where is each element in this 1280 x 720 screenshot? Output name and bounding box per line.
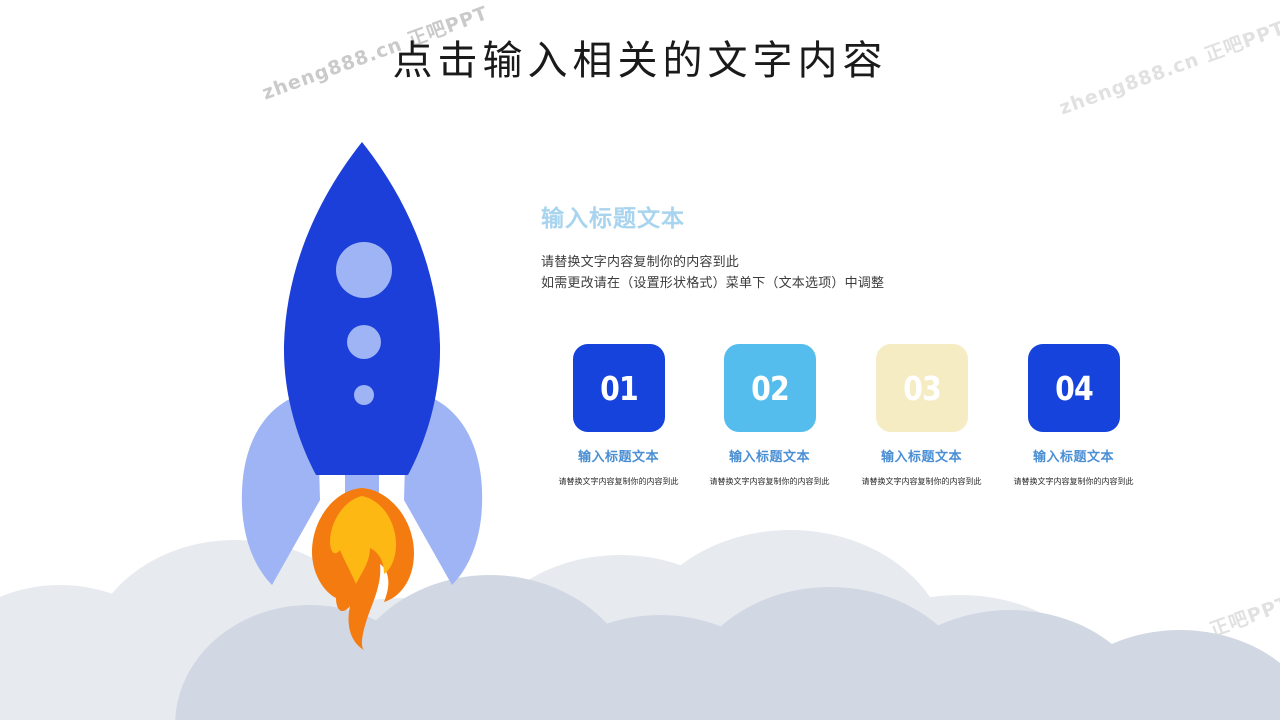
number-card-01-number: 01 [600, 369, 638, 408]
number-card-04-box[interactable]: 04 [1028, 344, 1120, 432]
number-card-01-box[interactable]: 01 [573, 344, 665, 432]
body-text-line-2: 如需更改请在（设置形状格式）菜单下（文本选项）中调整 [541, 272, 1161, 293]
number-card-01-title: 输入标题文本 [543, 446, 694, 465]
rocket-window-small [354, 385, 374, 405]
section-heading: 输入标题文本 [541, 205, 1161, 233]
rocket-body [284, 142, 440, 475]
number-card-03-title: 输入标题文本 [846, 446, 997, 465]
number-card-04-desc: 请替换文字内容复制你的内容到此 [998, 476, 1149, 487]
number-card-04-number: 04 [1055, 369, 1093, 408]
page-title: 点击输入相关的文字内容 [0, 28, 1280, 86]
rocket-icon [212, 130, 512, 650]
number-card-02-number: 02 [751, 369, 789, 408]
number-card-03[interactable]: 03 输入标题文本 请替换文字内容复制你的内容到此 [846, 344, 997, 487]
number-card-03-box[interactable]: 03 [876, 344, 968, 432]
number-card-group: 01 输入标题文本 请替换文字内容复制你的内容到此 02 输入标题文本 请替换文… [543, 344, 1163, 504]
number-card-02-title: 输入标题文本 [694, 446, 845, 465]
rocket-window-medium [347, 325, 381, 359]
number-card-04[interactable]: 04 输入标题文本 请替换文字内容复制你的内容到此 [998, 344, 1149, 487]
number-card-03-desc: 请替换文字内容复制你的内容到此 [846, 476, 997, 487]
number-card-02-box[interactable]: 02 [724, 344, 816, 432]
body-text-line-1: 请替换文字内容复制你的内容到此 [541, 251, 1161, 272]
number-card-02[interactable]: 02 输入标题文本 请替换文字内容复制你的内容到此 [694, 344, 845, 487]
number-card-03-number: 03 [903, 369, 941, 408]
rocket-window-large [336, 242, 392, 298]
slide-canvas: 点击输入相关的文字内容 [0, 0, 1280, 720]
content-block: 输入标题文本 请替换文字内容复制你的内容到此 如需更改请在（设置形状格式）菜单下… [541, 205, 1161, 293]
rocket-flame [312, 488, 414, 650]
number-card-01[interactable]: 01 输入标题文本 请替换文字内容复制你的内容到此 [543, 344, 694, 487]
number-card-02-desc: 请替换文字内容复制你的内容到此 [694, 476, 845, 487]
number-card-01-desc: 请替换文字内容复制你的内容到此 [543, 476, 694, 487]
number-card-04-title: 输入标题文本 [998, 446, 1149, 465]
